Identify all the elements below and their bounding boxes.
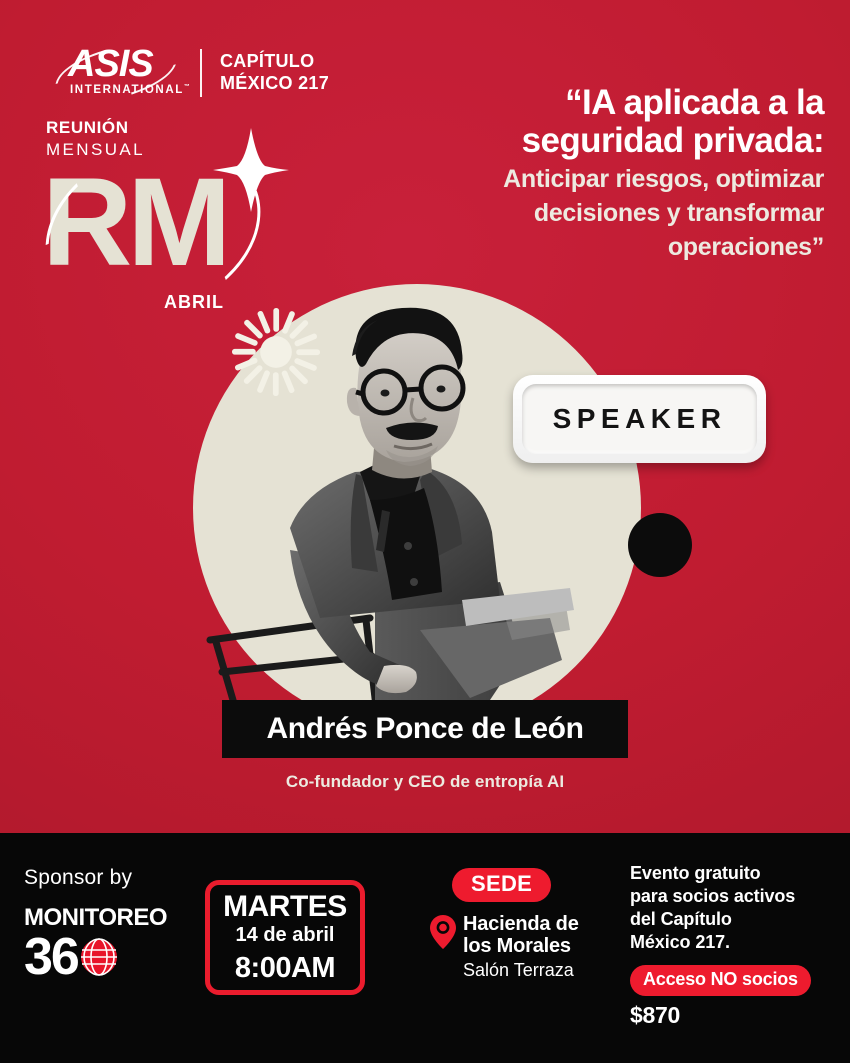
- sparkle-icon: [213, 128, 289, 212]
- non-member-price: $870: [630, 1002, 840, 1029]
- venue-room: Salón Terraza: [463, 959, 605, 981]
- venue-pill-label: SEDE: [452, 868, 551, 902]
- sponsor-label: Sponsor by: [24, 866, 194, 890]
- speaker-name-bar: Andrés Ponce de León: [222, 700, 628, 758]
- trademark-symbol: ™: [184, 84, 190, 90]
- speaker-role: Co-fundador y CEO de entropía AI: [0, 772, 850, 792]
- sponsor-brand-number: 36: [24, 932, 78, 982]
- info-line-1: Evento gratuito: [630, 862, 840, 885]
- event-date-box: MARTES 14 de abril 8:00AM: [205, 880, 365, 995]
- info-line-4: México 217.: [630, 931, 840, 954]
- non-member-access-pill: Acceso NO socios: [630, 965, 811, 996]
- attendance-info-block: Evento gratuito para socios activos del …: [630, 862, 840, 1029]
- poster-red-stage: ASIS INTERNATIONAL™ CAPÍTULO MÉXICO 217 …: [0, 0, 850, 833]
- venue-name-line-1: Hacienda de: [463, 913, 579, 935]
- speaker-photo: [170, 300, 600, 730]
- chapter-line-1: CAPÍTULO: [220, 51, 329, 73]
- title-line-2: seguridad privada:: [404, 122, 824, 160]
- event-title: “IA aplicada a la seguridad privada: Ant…: [404, 84, 824, 262]
- asis-wordmark: ASIS: [68, 44, 153, 84]
- title-line-4: decisiones y transformar: [404, 199, 824, 228]
- event-poster: ASIS INTERNATIONAL™ CAPÍTULO MÉXICO 217 …: [0, 0, 850, 1063]
- title-line-5: operaciones”: [404, 233, 824, 262]
- speaker-name: Andrés Ponce de León: [266, 712, 583, 746]
- globe-icon: [79, 937, 119, 977]
- venue-name-line-2: los Morales: [463, 935, 579, 957]
- chapter-name: CAPÍTULO MÉXICO 217: [220, 51, 329, 95]
- event-time: 8:00AM: [235, 951, 335, 985]
- info-line-3: del Capítulo: [630, 908, 840, 931]
- sponsor-block: Sponsor by MONITOREO 36: [24, 866, 194, 982]
- sponsor-brand-word: MONITOREO: [24, 906, 194, 930]
- asis-logo-block: ASIS INTERNATIONAL™ CAPÍTULO MÉXICO 217: [58, 44, 329, 102]
- header-divider: [200, 49, 202, 97]
- speaker-badge: SPEAKER: [513, 375, 766, 463]
- venue-name: Hacienda de los Morales: [463, 913, 579, 957]
- venue-name-row: Hacienda de los Morales: [430, 913, 605, 957]
- sponsor-brand-row: 36: [24, 932, 194, 982]
- venue-block: SEDE Hacienda de los Morales Salón Terra…: [430, 868, 605, 981]
- event-date: 14 de abril: [236, 923, 335, 948]
- info-line-2: para socios activos: [630, 885, 840, 908]
- rm-initials: RM: [42, 164, 226, 282]
- speaker-badge-label: SPEAKER: [553, 403, 727, 435]
- title-line-3: Anticipar riesgos, optimizar: [404, 165, 824, 194]
- month-label: ABRIL: [164, 292, 224, 313]
- location-pin-icon: [430, 915, 456, 949]
- asis-subtitle: INTERNATIONAL™: [70, 84, 190, 96]
- event-day: MARTES: [223, 891, 347, 923]
- asis-logo: ASIS INTERNATIONAL™: [58, 44, 178, 102]
- title-line-1: “IA aplicada a la: [404, 84, 824, 122]
- black-circle-accent: [628, 513, 692, 577]
- chapter-line-2: MÉXICO 217: [220, 73, 329, 95]
